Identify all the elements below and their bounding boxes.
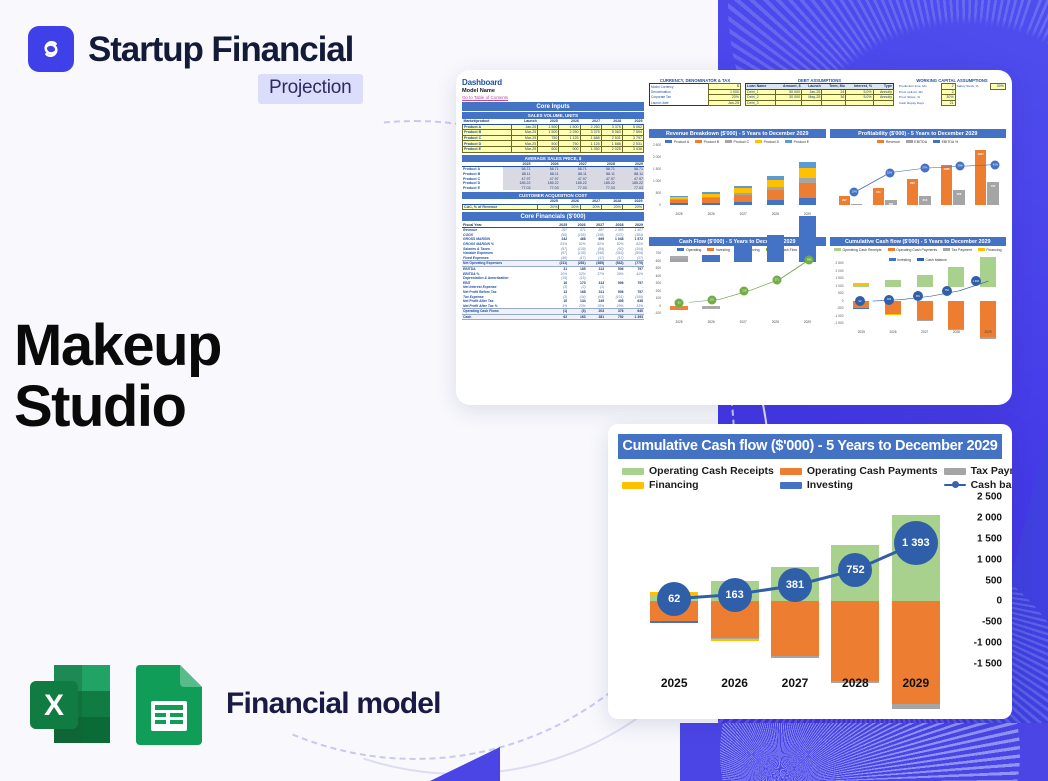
page-title: Makeup Studio — [14, 316, 221, 438]
legend-item: Operating — [677, 248, 701, 252]
cash-balance-node: 62 — [657, 582, 691, 616]
legend-item: Operating Cash Payments — [780, 465, 938, 477]
legend-item: Operating Cash Payments — [888, 248, 938, 252]
cell — [802, 100, 822, 106]
cell — [775, 100, 801, 106]
cell: 62 — [550, 314, 568, 320]
chart-cash-flow[interactable]: Cash Flow ($'000) - 5 Years to December … — [649, 237, 826, 342]
cell: Debt_3 — [746, 100, 776, 106]
y-tick: 1 000 — [653, 179, 661, 183]
x-tick: 2029 — [979, 330, 996, 334]
cell: 900 — [559, 146, 580, 152]
average-price-table[interactable]: 2025 2026 2027 2028 2029 Product A 58.71… — [462, 162, 644, 191]
legend-item: Revenue — [877, 140, 900, 144]
bar-segment — [702, 203, 720, 205]
x-tick: 2025 — [670, 212, 688, 216]
bar-group — [734, 147, 752, 205]
cell: 2 025 — [601, 146, 622, 152]
page-title-line-1: Makeup — [14, 316, 221, 377]
cumulative-cashflow-legend: Operating Cash Receipts Operating Cash P… — [618, 459, 1002, 495]
x-tick: 2026 — [702, 320, 720, 324]
legend-swatch — [944, 468, 966, 475]
bar-segment — [799, 183, 817, 199]
legend-label: Tax Payment — [971, 465, 1012, 477]
cash-balance-node: 752 — [942, 286, 952, 296]
bar-segment — [734, 195, 752, 202]
cell: 1 350 — [580, 146, 601, 152]
table-row[interactable]: Launch date Jan-25 — [650, 100, 741, 106]
legend-swatch — [622, 468, 644, 475]
net-cashflow-node: 218 — [740, 287, 749, 296]
dashboard-model-name: Model Name — [462, 88, 644, 94]
footer-label: Financial model — [226, 687, 441, 721]
bar-group — [799, 147, 817, 205]
cell: Cash — [462, 314, 550, 320]
page-title-line-2: Studio — [14, 377, 221, 438]
cell: 20% — [538, 204, 559, 210]
bar-group — [670, 147, 688, 205]
bar-segment — [892, 704, 940, 709]
chart-legend: Product AProduct BProduct CProduct DProd… — [649, 138, 826, 145]
legend-item: Operating Cash Receipts — [834, 248, 882, 252]
cell: 77.03 — [588, 186, 616, 191]
background-bottom-band — [680, 723, 1048, 781]
ebitda-pct-node: 32% — [885, 168, 894, 177]
legend-item: Tax Payment — [944, 465, 1012, 477]
legend-item: Operating Cash Receipts — [622, 465, 774, 477]
dashboard-title: Dashboard — [462, 78, 644, 87]
cell — [846, 100, 873, 106]
legend-swatch — [780, 482, 802, 489]
legend-label: Financing — [649, 479, 699, 491]
legend-item: Product B — [695, 140, 719, 144]
legend-item: Investing — [780, 479, 938, 491]
legend-item: Tax Payment — [943, 248, 972, 252]
cell: 381 — [587, 314, 605, 320]
legend-swatch — [622, 482, 644, 489]
x-tick: 2027 — [734, 212, 752, 216]
cell: 600 — [538, 146, 559, 152]
chart-profitability[interactable]: Profitability ($'000) - 5 Years to Decem… — [830, 129, 1007, 234]
y-tick: 2 500 — [653, 143, 661, 147]
net-cashflow-node: 640 — [805, 255, 814, 264]
brand-header: Startup Financial — [28, 26, 353, 72]
cell: 3 038 — [622, 146, 643, 152]
bar-segment — [799, 198, 817, 205]
legend-item: EBITDA % — [933, 140, 958, 144]
currency-assumptions-block[interactable]: CURRENCY, DENOMINATOR & TAX Model Curren… — [649, 78, 741, 126]
legend-item: Product E — [785, 140, 809, 144]
cash-balance-node: 163 — [884, 295, 894, 305]
cell: 21 — [941, 100, 955, 106]
bar-segment — [799, 168, 817, 179]
sales-volume-table[interactable]: Market/product Launch 2025 2026 2027 202… — [462, 119, 644, 153]
cell: 20% — [622, 204, 643, 210]
brand-subtitle-badge: Projection — [258, 74, 363, 104]
x-tick: 2025 — [853, 330, 870, 334]
infinity-e-icon — [36, 34, 66, 64]
table-row[interactable]: Product E Mar-25 600 900 1 350 2 025 3 0… — [463, 146, 644, 152]
chart-title: Profitability ($'000) - 5 Years to Decem… — [830, 129, 1007, 138]
cell: 77.03 — [560, 186, 588, 191]
bar-segment — [734, 202, 752, 205]
bar-segment — [767, 190, 785, 200]
dashboard-right-column: CURRENCY, DENOMINATOR & TAX Model Curren… — [649, 78, 1006, 399]
cell: 752 — [605, 314, 624, 320]
chart-title: Revenue Breakdown ($'000) - 5 Years to D… — [649, 129, 826, 138]
x-tick: 2027 — [916, 330, 933, 334]
legend-swatch — [944, 484, 966, 487]
x-tick: 2026 — [884, 330, 901, 334]
cash-balance-node: 163 — [718, 578, 752, 612]
x-tick: 2027 — [734, 320, 752, 324]
table-row[interactable]: CAC, % of Revenue 20% 20% 20% 20% 20% — [463, 204, 644, 210]
bar-group — [767, 147, 785, 205]
legend-label: Investing — [807, 479, 853, 491]
cell: Product E — [463, 146, 512, 152]
net-cashflow-node: 371 — [772, 275, 781, 284]
legend-item: Investing — [707, 248, 730, 252]
debt-assumptions-block[interactable]: DEBT ASSUMPTIONS Loan NameAmount, $Launc… — [745, 78, 894, 126]
svg-text:X: X — [44, 689, 64, 722]
cell: 163 — [568, 314, 586, 320]
legend-label: Cash balance — [971, 479, 1012, 491]
cac-table[interactable]: 2025 2026 2027 2028 2029 CAC, % of Reven… — [462, 199, 644, 210]
core-inputs-band: Core Inputs — [462, 102, 644, 111]
bar-group — [702, 147, 720, 205]
core-financials-band: Core Financials ($'000) — [462, 212, 644, 221]
legend-swatch — [780, 468, 802, 475]
table-row[interactable]: Product E 77.03 77.03 77.03 77.03 77.03 — [462, 186, 644, 191]
cash-balance-node: 381 — [913, 291, 923, 301]
working-capital-block[interactable]: WORKING CAPITAL ASSUMPTIONS Production t… — [898, 78, 1006, 126]
ebitda-pct-node: 41% — [991, 160, 1000, 169]
cell: Mar-25 — [512, 146, 538, 152]
cell: 20% — [580, 204, 601, 210]
chart-title: Cumulative Cash flow ($'000) - 5 Years t… — [830, 237, 1007, 246]
google-sheets-icon — [134, 663, 204, 745]
y-tick: 0 — [659, 203, 661, 207]
microsoft-excel-icon: X — [28, 663, 112, 745]
legend-item: Cash balance — [944, 479, 1012, 491]
cash-balance-node: 1 393 — [894, 521, 938, 565]
table-row[interactable]: Cash 621633817521 393 — [462, 314, 644, 320]
ebitda-pct-node: 37% — [920, 164, 929, 173]
table-row[interactable]: Debt_3 — [746, 100, 894, 106]
cell: Jan-25 — [708, 100, 740, 106]
cell: 1 393 — [625, 314, 644, 320]
x-tick: 2029 — [799, 320, 817, 324]
cash-balance-node: 752 — [838, 553, 872, 587]
cash-balance-node: 381 — [778, 568, 812, 602]
brand-name: Startup Financial — [88, 32, 353, 67]
cell: 77.03 — [503, 186, 531, 191]
legend-label: Operating Cash Payments — [807, 465, 938, 477]
chart-legend: RevenueEBITDAEBITDA % — [830, 138, 1007, 145]
sales-volume-header: SALES VOLUME, UNITS — [462, 112, 644, 119]
cell: 77.03 — [532, 186, 560, 191]
cell: 77.03 — [616, 186, 644, 191]
x-tick: 2026 — [702, 212, 720, 216]
y-tick: 1 500 — [653, 167, 661, 171]
table-row[interactable]: Cash Repay Days 21 — [898, 100, 1006, 106]
y-tick: 2 000 — [653, 155, 661, 159]
ebitda-pct-node: 10% — [850, 188, 859, 197]
cell: CAC, % of Revenue — [463, 204, 538, 210]
cell: 20% — [601, 204, 622, 210]
cell: Launch date — [650, 100, 709, 106]
cumulative-cashflow-title: Cumulative Cash flow ($'000) - 5 Years t… — [618, 434, 1002, 459]
cash-balance-node: 62 — [855, 296, 865, 306]
y-tick: 500 — [656, 191, 661, 195]
dashboard-left-column: Dashboard Model Name Go to Table of Cont… — [462, 78, 644, 399]
cell: Cash Repay Days — [898, 100, 941, 106]
avg-price-header: AVERAGE SALES PRICE, $ — [462, 155, 644, 162]
cumulative-cashflow-plot: 621633817521 393 2 5002 0001 5001 000500… — [618, 497, 1002, 702]
x-tick: 2028 — [767, 212, 785, 216]
slide-canvas: Startup Financial Projection Makeup Stud… — [0, 0, 1048, 781]
legend-item: Product D — [755, 140, 779, 144]
dashboard-screenshot-card[interactable]: Dashboard Model Name Go to Table of Cont… — [456, 70, 1012, 405]
x-tick: 2028 — [767, 320, 785, 324]
cumulative-cashflow-card[interactable]: Cumulative Cash flow ($'000) - 5 Years t… — [608, 424, 1012, 719]
bar-segment — [670, 203, 688, 205]
footer-row: X Financial model — [28, 663, 441, 745]
dashboard-toc-link[interactable]: Go to Table of Contents — [462, 95, 644, 100]
legend-item: Financing — [978, 248, 1002, 252]
chart-cumulative-cash-flow[interactable]: Cumulative Cash flow ($'000) - 5 Years t… — [830, 237, 1007, 342]
x-tick: 2028 — [948, 330, 965, 334]
cell — [873, 100, 893, 106]
bar-segment — [980, 337, 996, 339]
currency-header: CURRENCY, DENOMINATOR & TAX — [649, 78, 741, 83]
cell: Product E — [462, 186, 503, 191]
cell — [822, 100, 846, 106]
legend-item: Financing — [622, 479, 774, 491]
background-corner-triangle — [430, 747, 500, 781]
cash-balance-node: 1 393 — [971, 276, 981, 286]
core-financials-table[interactable]: Fiscal Year20252026202720282029 Revenue … — [462, 222, 644, 320]
net-cashflow-node: 101 — [707, 296, 716, 305]
net-cashflow-node: 62 — [675, 298, 684, 307]
legend-item: EBITDA — [906, 140, 927, 144]
legend-item: Investing — [889, 258, 912, 262]
legend-item: Product C — [725, 140, 749, 144]
legend-item: Product A — [665, 140, 689, 144]
bar-segment — [767, 200, 785, 205]
ebitda-pct-node: 39% — [956, 162, 965, 171]
cac-header: CUSTOMER ACQUISITION COST — [462, 192, 644, 199]
brand-logo-mark — [28, 26, 74, 72]
legend-label: Operating Cash Receipts — [649, 465, 774, 477]
cell: 20% — [559, 204, 580, 210]
bar-segment — [767, 180, 785, 187]
legend-item: Cash balance — [917, 258, 947, 262]
x-tick: 2025 — [670, 320, 688, 324]
